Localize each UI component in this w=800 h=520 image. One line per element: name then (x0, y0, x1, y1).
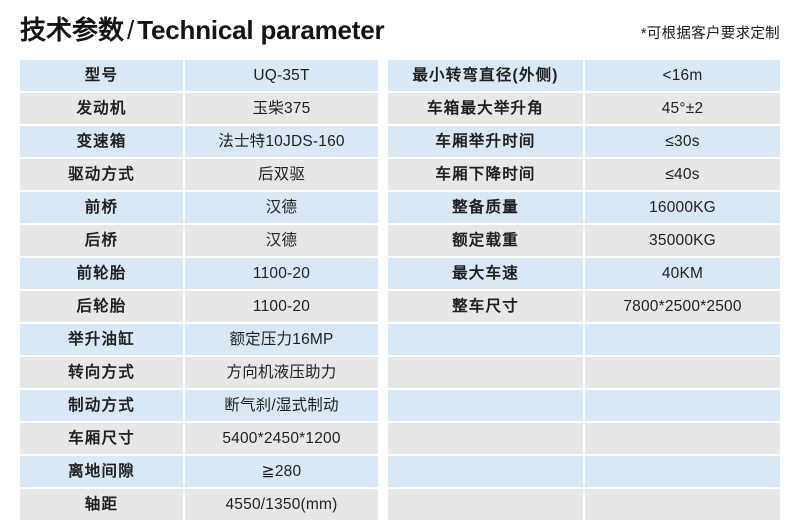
spec-value: 16000KG (585, 192, 780, 225)
spec-tables-container: 型号UQ-35T发动机玉柴375变速箱法士特10JDS-160驱动方式后双驱前桥… (0, 56, 800, 506)
table-row (388, 390, 780, 423)
table-row (388, 489, 780, 520)
spec-value: 5400*2450*1200 (185, 423, 378, 456)
spec-label: 轴距 (20, 489, 185, 520)
table-row: 转向方式方向机液压助力 (20, 357, 378, 390)
page-title: 技术参数/Technical parameter (20, 13, 384, 47)
table-row: 轴距4550/1350(mm) (20, 489, 378, 520)
table-row: 变速箱法士特10JDS-160 (20, 126, 378, 159)
spec-label: 变速箱 (20, 126, 185, 159)
table-row (388, 324, 780, 357)
spec-label: 车厢下降时间 (388, 159, 585, 192)
spec-label: 离地间隙 (20, 456, 185, 489)
spec-value: 汉德 (185, 225, 378, 258)
table-row: 最小转弯直径(外侧)<16m (388, 60, 780, 93)
table-row: 车厢尺寸5400*2450*1200 (20, 423, 378, 456)
spec-label: 举升油缸 (20, 324, 185, 357)
table-row: 举升油缸额定压力16MP (20, 324, 378, 357)
spec-value: 35000KG (585, 225, 780, 258)
spec-value: 断气刹/湿式制动 (185, 390, 378, 423)
left-spec-table-body: 型号UQ-35T发动机玉柴375变速箱法士特10JDS-160驱动方式后双驱前桥… (20, 60, 378, 520)
spec-value: 7800*2500*2500 (585, 291, 780, 324)
spec-label: 最小转弯直径(外侧) (388, 60, 585, 93)
spec-label: 型号 (20, 60, 185, 93)
spec-label-empty (388, 390, 585, 423)
spec-value: 玉柴375 (185, 93, 378, 126)
spec-value: ≧280 (185, 456, 378, 489)
spec-label: 额定载重 (388, 225, 585, 258)
spec-value: 法士特10JDS-160 (185, 126, 378, 159)
table-row: 车厢下降时间≤40s (388, 159, 780, 192)
table-row: 车箱最大举升角45°±2 (388, 93, 780, 126)
spec-label: 前桥 (20, 192, 185, 225)
spec-value: 额定压力16MP (185, 324, 378, 357)
table-row (388, 423, 780, 456)
spec-label: 前轮胎 (20, 258, 185, 291)
spec-value: UQ-35T (185, 60, 378, 93)
table-row: 前桥汉德 (20, 192, 378, 225)
spec-label: 车厢举升时间 (388, 126, 585, 159)
table-row (388, 357, 780, 390)
spec-value: 45°±2 (585, 93, 780, 126)
spec-label: 车厢尺寸 (20, 423, 185, 456)
spec-label-empty (388, 489, 585, 520)
spec-label: 制动方式 (20, 390, 185, 423)
table-row: 制动方式断气刹/湿式制动 (20, 390, 378, 423)
spec-value-empty (585, 324, 780, 357)
spec-value-empty (585, 390, 780, 423)
spec-value: 40KM (585, 258, 780, 291)
table-row (388, 456, 780, 489)
table-row: 整车尺寸7800*2500*2500 (388, 291, 780, 324)
spec-value: 1100-20 (185, 291, 378, 324)
table-row: 车厢举升时间≤30s (388, 126, 780, 159)
spec-value-empty (585, 357, 780, 390)
table-row: 后轮胎1100-20 (20, 291, 378, 324)
table-row: 后桥汉德 (20, 225, 378, 258)
spec-value: 1100-20 (185, 258, 378, 291)
spec-value: <16m (585, 60, 780, 93)
spec-label-empty (388, 357, 585, 390)
table-row: 前轮胎1100-20 (20, 258, 378, 291)
spec-value: 方向机液压助力 (185, 357, 378, 390)
customization-note: *可根据客户要求定制 (641, 24, 780, 44)
spec-value: 汉德 (185, 192, 378, 225)
table-row: 发动机玉柴375 (20, 93, 378, 126)
table-row: 型号UQ-35T (20, 60, 378, 93)
spec-value: 后双驱 (185, 159, 378, 192)
spec-sheet-page: 技术参数/Technical parameter *可根据客户要求定制 型号UQ… (0, 0, 800, 517)
spec-label: 整车尺寸 (388, 291, 585, 324)
right-spec-table-body: 最小转弯直径(外侧)<16m车箱最大举升角45°±2车厢举升时间≤30s车厢下降… (388, 60, 780, 520)
spec-label: 驱动方式 (20, 159, 185, 192)
left-spec-table: 型号UQ-35T发动机玉柴375变速箱法士特10JDS-160驱动方式后双驱前桥… (20, 60, 378, 520)
spec-label: 发动机 (20, 93, 185, 126)
spec-value: 4550/1350(mm) (185, 489, 378, 520)
spec-value-empty (585, 489, 780, 520)
spec-label: 最大车速 (388, 258, 585, 291)
table-row: 最大车速40KM (388, 258, 780, 291)
right-spec-table: 最小转弯直径(外侧)<16m车箱最大举升角45°±2车厢举升时间≤30s车厢下降… (388, 60, 780, 520)
spec-value: ≤40s (585, 159, 780, 192)
spec-value-empty (585, 423, 780, 456)
table-row: 离地间隙≧280 (20, 456, 378, 489)
page-title-separator: / (124, 15, 137, 45)
page-header: 技术参数/Technical parameter *可根据客户要求定制 (0, 0, 800, 56)
spec-label: 后桥 (20, 225, 185, 258)
spec-label: 整备质量 (388, 192, 585, 225)
table-row: 整备质量16000KG (388, 192, 780, 225)
spec-label-empty (388, 324, 585, 357)
spec-label: 转向方式 (20, 357, 185, 390)
spec-label: 车箱最大举升角 (388, 93, 585, 126)
spec-label: 后轮胎 (20, 291, 185, 324)
spec-value: ≤30s (585, 126, 780, 159)
spec-value-empty (585, 456, 780, 489)
page-title-en: Technical parameter (137, 15, 384, 45)
spec-label-empty (388, 423, 585, 456)
table-row: 驱动方式后双驱 (20, 159, 378, 192)
spec-label-empty (388, 456, 585, 489)
table-row: 额定载重35000KG (388, 225, 780, 258)
page-title-cn: 技术参数 (20, 15, 124, 45)
